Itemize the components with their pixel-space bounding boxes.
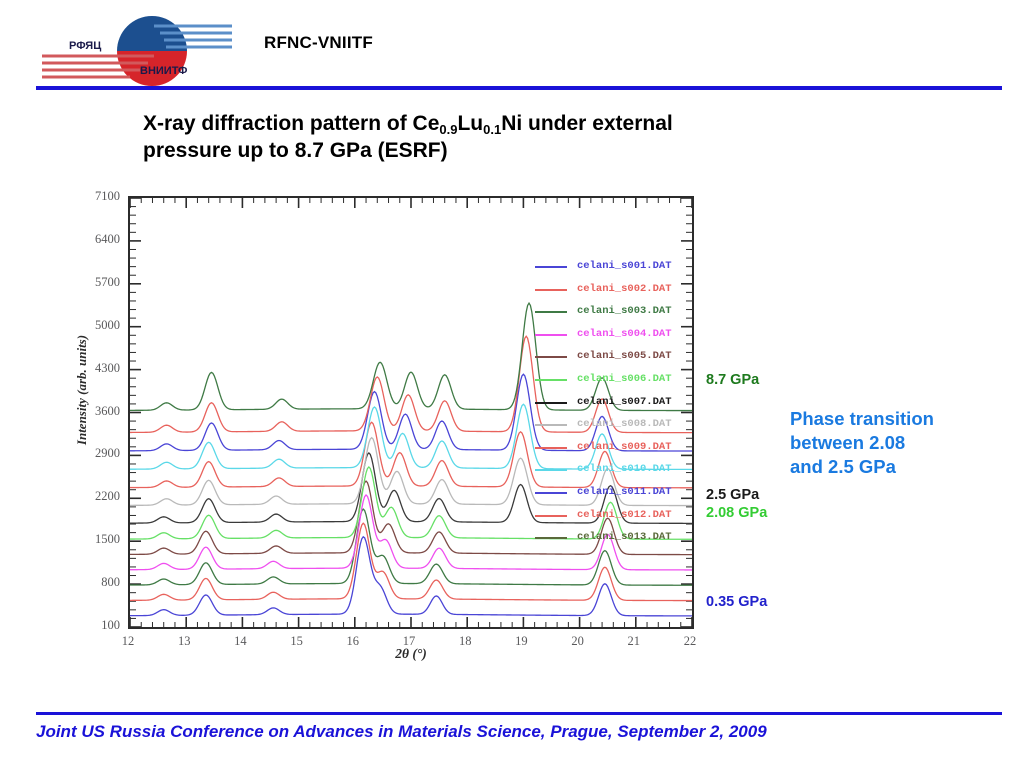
legend-color-swatch bbox=[535, 402, 567, 404]
legend-color-swatch bbox=[535, 469, 567, 471]
legend-color-swatch bbox=[535, 515, 567, 517]
legend-label: celani_s007.DAT bbox=[577, 396, 672, 408]
logo-graphic: РФЯЦ ВНИИТФ bbox=[42, 16, 232, 86]
legend-color-swatch bbox=[535, 334, 567, 336]
legend-color-swatch bbox=[535, 537, 567, 539]
slide-header: РФЯЦ ВНИИТФ RFNC-VNIITF bbox=[0, 0, 1024, 92]
y-tick-label: 5000 bbox=[76, 318, 120, 333]
pressure-label: 2.5 GPa bbox=[706, 487, 759, 503]
y-tick-label: 3600 bbox=[76, 404, 120, 419]
legend-label: celani_s006.DAT bbox=[577, 373, 672, 385]
footer-text: Joint US Russia Conference on Advances i… bbox=[36, 722, 1002, 742]
pressure-label: 0.35 GPa bbox=[706, 594, 767, 610]
y-tick-label: 2900 bbox=[76, 446, 120, 461]
xrd-chart: Intensity (arb. units) 10080015002200290… bbox=[36, 182, 716, 660]
title-subscript-lu: 0.1 bbox=[483, 122, 501, 137]
legend-color-swatch bbox=[535, 289, 567, 291]
header-divider bbox=[36, 86, 1002, 90]
legend-label: celani_s009.DAT bbox=[577, 441, 672, 453]
phase-note-line3: and 2.5 GPa bbox=[790, 456, 896, 477]
diffraction-curve bbox=[130, 404, 692, 469]
legend-label: celani_s002.DAT bbox=[577, 283, 672, 295]
title-line2: pressure up to 8.7 GPa (ESRF) bbox=[143, 139, 448, 162]
y-tick-label: 1500 bbox=[76, 532, 120, 547]
phase-transition-note: Phase transition between 2.08 and 2.5 GP… bbox=[790, 407, 1005, 479]
legend-color-swatch bbox=[535, 447, 567, 449]
legend-color-swatch bbox=[535, 266, 567, 268]
logo-text-rfyac: РФЯЦ bbox=[69, 40, 101, 52]
y-tick-label: 6400 bbox=[76, 232, 120, 247]
legend-label: celani_s001.DAT bbox=[577, 260, 672, 272]
rfnc-vniitf-logo: РФЯЦ ВНИИТФ bbox=[42, 16, 232, 86]
legend-label: celani_s008.DAT bbox=[577, 418, 672, 430]
legend-label: celani_s005.DAT bbox=[577, 350, 672, 362]
legend-color-swatch bbox=[535, 356, 567, 358]
y-tick-label: 4300 bbox=[76, 361, 120, 376]
slide-title: X-ray diffraction pattern of Ce0.9Lu0.1N… bbox=[143, 110, 903, 165]
legend-label: celani_s013.DAT bbox=[577, 531, 672, 543]
legend-label: celani_s004.DAT bbox=[577, 328, 672, 340]
legend-label: celani_s003.DAT bbox=[577, 305, 672, 317]
legend-color-swatch bbox=[535, 424, 567, 426]
logo-text-vniitf: ВНИИТФ bbox=[140, 65, 187, 77]
diffraction-curve bbox=[130, 374, 692, 451]
pressure-label: 8.7 GPa bbox=[706, 372, 759, 388]
legend-color-swatch bbox=[535, 492, 567, 494]
legend-label: celani_s010.DAT bbox=[577, 463, 672, 475]
legend-color-swatch bbox=[535, 379, 567, 381]
footer-divider bbox=[36, 712, 1002, 715]
y-tick-label: 100 bbox=[76, 618, 120, 633]
phase-note-line1: Phase transition bbox=[790, 408, 934, 429]
phase-note-line2: between 2.08 bbox=[790, 432, 905, 453]
y-tick-label: 7100 bbox=[76, 189, 120, 204]
pressure-label: 2.08 GPa bbox=[706, 505, 767, 521]
legend-color-swatch bbox=[535, 311, 567, 313]
legend-label: celani_s012.DAT bbox=[577, 509, 672, 521]
y-tick-label: 5700 bbox=[76, 275, 120, 290]
title-line1-part-c: Ni under external bbox=[501, 112, 673, 135]
y-tick-label: 800 bbox=[76, 575, 120, 590]
title-subscript-ce: 0.9 bbox=[439, 122, 457, 137]
organization-name: RFNC-VNIITF bbox=[264, 33, 373, 53]
legend-label: celani_s011.DAT bbox=[577, 486, 672, 498]
x-axis-label: 2θ (°) bbox=[128, 646, 694, 662]
title-line1-part-a: X-ray diffraction pattern of Ce bbox=[143, 112, 439, 135]
title-line1-part-b: Lu bbox=[457, 112, 483, 135]
y-tick-label: 2200 bbox=[76, 489, 120, 504]
plot-frame: celani_s001.DATcelani_s002.DATcelani_s00… bbox=[128, 196, 694, 629]
